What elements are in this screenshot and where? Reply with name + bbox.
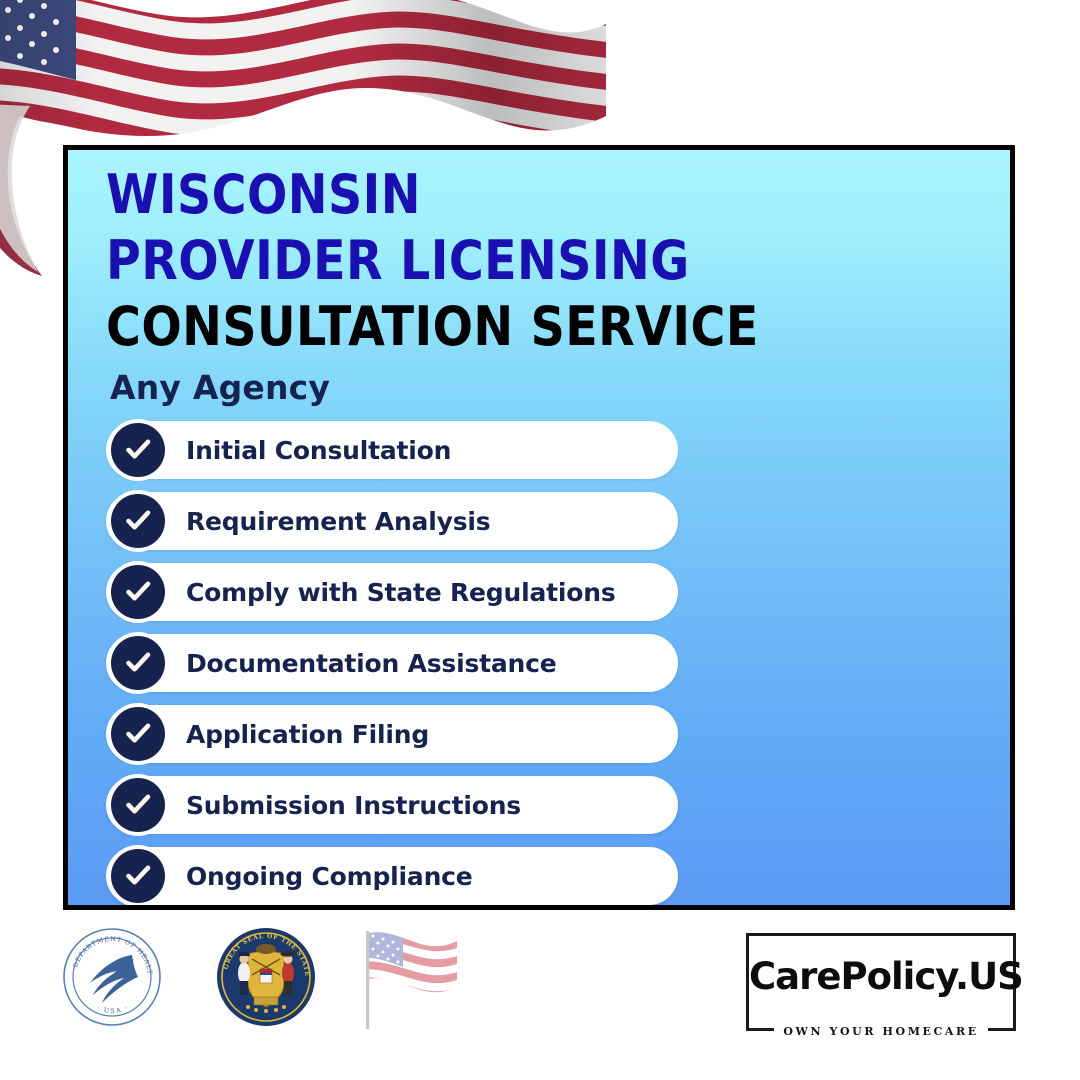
service-card-content: WISCONSIN PROVIDER LICENSING CONSULTATIO… [68,150,1010,905]
check-icon [111,565,165,619]
list-item[interactable]: Comply with State Regulations [106,563,678,621]
list-item[interactable]: Requirement Analysis [106,492,678,550]
list-item[interactable]: Initial Consultation [106,421,678,479]
brand-name: CarePolicy.US [749,955,1013,998]
check-icon [111,494,165,548]
list-item[interactable]: Documentation Assistance [106,634,678,692]
list-item[interactable]: Application Filing [106,705,678,763]
brand-logo: CarePolicy.US OWN YOUR HOMECARE [746,933,1016,1031]
service-checklist: Initial Consultation Requirement Analysi… [106,421,1010,905]
list-item-label: Comply with State Regulations [186,578,616,607]
check-icon [111,636,165,690]
list-item-label: Submission Instructions [186,791,521,820]
headline-state: WISCONSIN [106,168,902,222]
list-item[interactable]: Ongoing Compliance [106,847,678,905]
list-item-label: Requirement Analysis [186,507,490,536]
brand-tagline: OWN YOUR HOMECARE [774,1025,987,1038]
check-icon [111,778,165,832]
check-icon [111,707,165,761]
poster-canvas: WISCONSIN PROVIDER LICENSING CONSULTATIO… [0,0,1080,1080]
list-item-label: Ongoing Compliance [186,862,473,891]
headline-consultation: CONSULTATION SERVICE [106,300,902,354]
list-item-label: Documentation Assistance [186,649,557,678]
us-flag-icon [355,925,465,1035]
list-item[interactable]: Submission Instructions [106,776,678,834]
wisconsin-state-seal-icon: GREAT SEAL OF THE STATE OF WISCONSIN [214,925,318,1029]
hhs-seal-icon: DEPARTMENT OF HEALTH & HUMAN SERVICES · … [60,925,164,1029]
subtitle-any-agency: Any Agency [110,368,1010,407]
brand-tagline-wrapper: OWN YOUR HOMECARE [749,1025,1013,1038]
service-card: WISCONSIN PROVIDER LICENSING CONSULTATIO… [63,145,1015,910]
check-icon [111,423,165,477]
list-item-label: Initial Consultation [186,436,451,465]
headline-service: PROVIDER LICENSING [106,234,902,288]
footer-logos: DEPARTMENT OF HEALTH & HUMAN SERVICES · … [0,925,1080,1055]
list-item-label: Application Filing [186,720,429,749]
check-icon [111,849,165,903]
